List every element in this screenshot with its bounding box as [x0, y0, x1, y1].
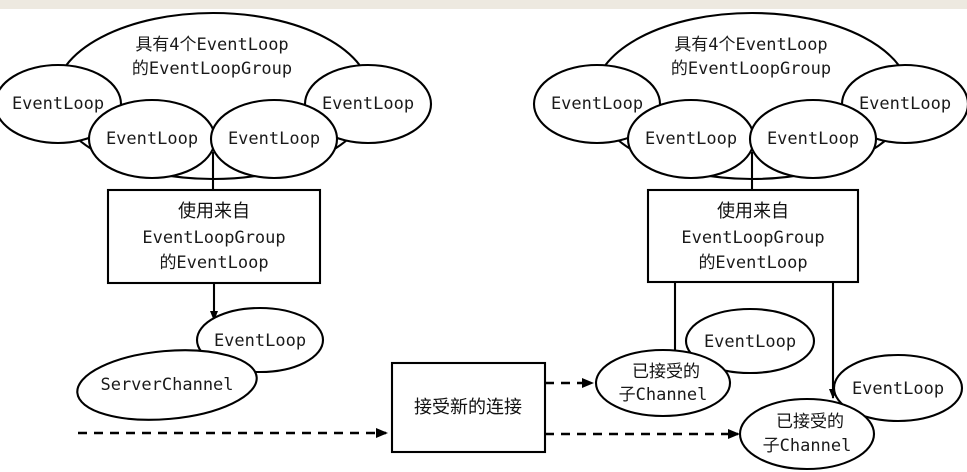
right-assigned-eventloop-1-label: EventLoop	[704, 332, 796, 352]
left-group-label-line2: 的EventLoopGroup	[132, 59, 292, 79]
right-eventloop-4-label: EventLoop	[767, 129, 859, 149]
right-eventloop-3-label: EventLoop	[645, 129, 737, 149]
child-channel-1-ellipse[interactable]	[596, 350, 730, 416]
left-process-box-line2: EventLoopGroup	[142, 228, 285, 248]
right-process-box-line3: 的EventLoop	[698, 253, 807, 273]
left-eventloop-1-label: EventLoop	[12, 94, 104, 114]
left-eventloop-3-label: EventLoop	[106, 129, 198, 149]
child-channel-1-line2: 子Channel	[619, 385, 708, 405]
left-assigned-eventloop-label: EventLoop	[214, 331, 306, 351]
child-channel-2-ellipse[interactable]	[740, 399, 874, 469]
right-process-box-line1: 使用来自	[717, 201, 789, 222]
left-process-box-line3: 的EventLoop	[159, 253, 268, 273]
right-process-box-line2: EventLoopGroup	[681, 228, 824, 248]
right-group-label-line1: 具有4个EventLoop	[674, 35, 827, 55]
server-channel-label: ServerChannel	[100, 375, 233, 395]
right-eventloop-2-label: EventLoop	[859, 94, 951, 114]
netty-eventloop-diagram: 具有4个EventLoop 的EventLoopGroup EventLoop …	[0, 0, 967, 472]
child-channel-2-line2: 子Channel	[763, 436, 852, 456]
right-assigned-eventloop-2-label: EventLoop	[852, 379, 944, 399]
right-group: 具有4个EventLoop 的EventLoopGroup EventLoop …	[534, 13, 967, 469]
child-channel-1-line1: 已接受的	[632, 362, 700, 382]
left-group-label-line1: 具有4个EventLoop	[135, 35, 288, 55]
right-group-label-line2: 的EventLoopGroup	[671, 59, 831, 79]
right-eventloop-1-label: EventLoop	[551, 94, 643, 114]
left-eventloop-2-label: EventLoop	[322, 94, 414, 114]
left-eventloop-4-label: EventLoop	[228, 129, 320, 149]
left-group: 具有4个EventLoop 的EventLoopGroup EventLoop …	[0, 13, 431, 433]
accept-connection-label: 接受新的连接	[414, 397, 522, 418]
left-process-box-line1: 使用来自	[178, 201, 250, 222]
child-channel-2-line1: 已接受的	[776, 412, 844, 432]
diagram-canvas: 具有4个EventLoop 的EventLoopGroup EventLoop …	[0, 0, 967, 472]
